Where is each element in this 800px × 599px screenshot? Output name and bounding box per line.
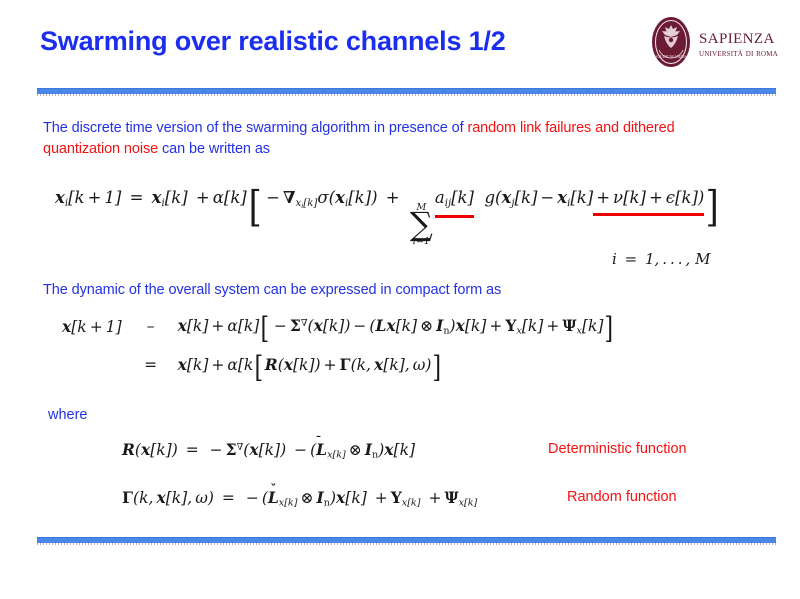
equation-random-Gamma: Γ(k, x[k], ω) = −(ˇLx[k]⊗In)x[k] +Υx[k] … [122, 488, 477, 509]
slide-canvas: Swarming over realistic channels 1/2 STU… [0, 0, 800, 599]
L-bar-symbol: ̄L [316, 440, 327, 459]
logo-subtitle: Università di Roma [699, 49, 778, 59]
divider-bottom [37, 537, 776, 543]
summation-operator: M ∑ i=1 [410, 203, 433, 247]
annotation-random: Random function [567, 489, 677, 505]
intro-text-part1: The discrete time version of the swarmin… [43, 120, 467, 136]
equation-compact-system: x[k+1] – x[k]+α[k][−Σ∇(x[k])−(Lx[k]⊗In)x… [62, 316, 615, 375]
sapienza-logo: STUDIUM URBIS Sapienza Università di Rom… [651, 16, 778, 68]
equation-rhs-1: x[k]+α[k][−Σ∇(x[k])−(Lx[k]⊗In)x[k]+Υx[k]… [164, 316, 615, 337]
intro-text-part2: can be written as [158, 141, 270, 157]
svg-text:STUDIUM URBIS: STUDIUM URBIS [655, 54, 686, 59]
equation-row-2: = x[k]+α[k[R(x[k])+Γ(k, x[k], ω)] [62, 337, 615, 375]
logo-name: Sapienza [699, 26, 778, 47]
underlined-link-weight: aij[k] [435, 188, 474, 209]
intro-paragraph: The discrete time version of the swarmin… [43, 118, 733, 160]
underlined-noise-terms: +ν[k]+ϵ[k]) [593, 188, 704, 207]
equation-index-condition: i = 1, . . . , M [612, 250, 710, 268]
equation-lhs-1: x[k+1] [62, 316, 138, 337]
equation-swarming-update: xi[k+1] = xi[k] +α[k][−∇xi[k]σ(xi[k]) + … [55, 188, 721, 246]
compact-form-paragraph: The dynamic of the overall system can be… [43, 280, 733, 301]
page-title: Swarming over realistic channels 1/2 [40, 26, 506, 57]
sapienza-crest-icon: STUDIUM URBIS [651, 16, 691, 68]
annotation-deterministic: Deterministic function [548, 441, 687, 457]
equation-rhs-2: x[k]+α[k[R(x[k])+Γ(k, x[k], ω)] [164, 337, 615, 375]
equation-deterministic-R: R(x[k]) = −Σ∇(x[k]) −(̄Lx[k]⊗In)x[k] [122, 440, 415, 461]
equation-relation-1: – [138, 316, 164, 337]
where-label: where [48, 407, 88, 423]
equation-relation-2: = [138, 337, 164, 375]
L-caron-symbol: ˇL [268, 488, 279, 507]
divider-top [37, 88, 776, 94]
equation-lhs-2 [62, 337, 138, 375]
equation-row-1: x[k+1] – x[k]+α[k][−Σ∇(x[k])−(Lx[k]⊗In)x… [62, 316, 615, 337]
